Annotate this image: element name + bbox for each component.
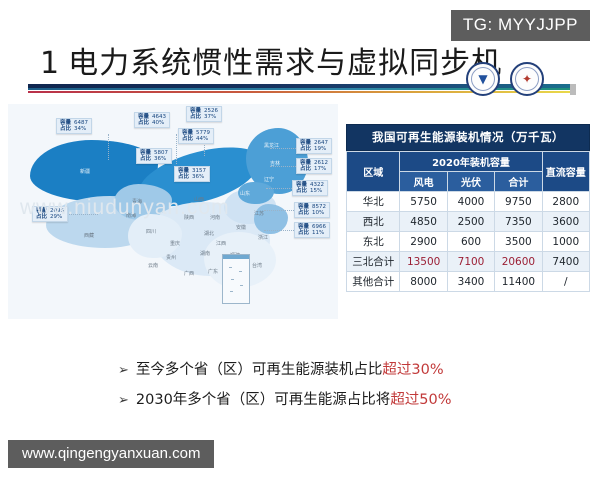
header-pv: 光伏 (447, 172, 494, 192)
province-label: 河南 (210, 214, 220, 221)
province-label: 广东 (208, 268, 218, 275)
cell-pv: 3400 (447, 272, 494, 292)
map-callout: 容量4322 占比15% (292, 180, 328, 196)
table-title: 我国可再生能源装机情况（万千瓦） (346, 124, 590, 151)
inset-dash (231, 279, 234, 280)
bullet-emphasis: 超过30% (382, 362, 443, 378)
cell-pv: 4000 (447, 192, 494, 212)
list-item: ➢ 2030年多个省（区）可再生能源占比将超过50% (118, 388, 518, 409)
callout-share-label: 占比 (36, 214, 47, 220)
callout-share-value: 37% (204, 114, 216, 120)
header-total: 合计 (495, 172, 542, 192)
map-callout: 容量4643 占比40% (134, 112, 170, 128)
institute-emblem-icon: ✦ (510, 62, 544, 96)
bullet-prefix: 至今多个省（区）可再生能源装机占比 (136, 362, 383, 378)
callout-share-value: 44% (196, 136, 208, 142)
slide: TG: MYYJJPP 1电力系统惯性需求与虚拟同步机 ▼ ✦ (0, 0, 600, 480)
map-callout: 容量6487 占比34% (56, 118, 92, 134)
table-row: 三北合计 13500 7100 20600 7400 (347, 252, 590, 272)
callout-share-label: 占比 (190, 114, 201, 120)
university-emblem-icon: ▼ (466, 62, 500, 96)
leader-line (264, 230, 296, 231)
cell-wind: 5750 (400, 192, 447, 212)
callout-share-value: 10% (312, 210, 324, 216)
footer-url: www.qingengyanxuan.com (8, 440, 214, 468)
cell-region: 华北 (347, 192, 400, 212)
inset-dash (239, 271, 242, 272)
inset-dash (230, 291, 233, 292)
callout-share-label: 占比 (298, 230, 309, 236)
province-label: 贵州 (166, 254, 176, 261)
province-label: 云南 (148, 262, 158, 269)
map-callout: 容量3157 占比36% (174, 166, 210, 182)
bullet-text: 至今多个省（区）可再生能源装机占比超过30% (136, 358, 444, 379)
province-label: 湖南 (200, 250, 210, 257)
page-title: 1电力系统惯性需求与虚拟同步机 (40, 38, 502, 82)
cell-wind: 8000 (400, 272, 447, 292)
leader-line (64, 214, 98, 215)
emblem-mark: ▼ (478, 73, 487, 85)
cell-dc: 1000 (542, 232, 589, 252)
callout-share-label: 占比 (182, 136, 193, 142)
header-dc-capacity: 直流容量 (542, 152, 589, 192)
map-callout: 容量2526 占比37% (186, 106, 222, 122)
callout-share-value: 17% (314, 166, 326, 172)
callout-share-value: 34% (74, 126, 86, 132)
cell-wind: 4850 (400, 212, 447, 232)
table-row: 东北 2900 600 3500 1000 (347, 232, 590, 252)
cell-wind: 2900 (400, 232, 447, 252)
map-callout: 容量5779 占比44% (178, 128, 214, 144)
map-callout: 容量2647 占比19% (296, 138, 332, 154)
province-label: 山东 (240, 190, 250, 197)
cell-dc: 2800 (542, 192, 589, 212)
bullet-prefix: 2030年多个省（区）可再生能源占比将 (136, 392, 390, 408)
province-label: 广西 (184, 270, 194, 277)
cell-pv: 2500 (447, 212, 494, 232)
renewable-capacity-table: 我国可再生能源装机情况（万千瓦） 区域 2020年装机容量 直流容量 风电 光伏… (346, 124, 590, 292)
leader-line (264, 210, 296, 211)
emblem-mark: ✦ (522, 73, 532, 85)
province-label: 辽宁 (264, 176, 274, 183)
callout-share-label: 占比 (138, 120, 149, 126)
bullet-list: ➢ 至今多个省（区）可再生能源装机占比超过30% ➢ 2030年多个省（区）可再… (118, 358, 518, 418)
province-label: 青海 (132, 198, 142, 205)
inset-dash (229, 267, 232, 268)
cell-region: 东北 (347, 232, 400, 252)
bullet-text: 2030年多个省（区）可再生能源占比将超过50% (136, 388, 452, 409)
bullet-arrow-icon: ➢ (118, 364, 129, 377)
leader-line (270, 166, 298, 167)
cell-total: 20600 (495, 252, 542, 272)
inset-dash (240, 285, 243, 286)
cell-region: 其他合计 (347, 272, 400, 292)
callout-share-value: 15% (310, 188, 322, 194)
cell-total: 9750 (495, 192, 542, 212)
header-wind: 风电 (400, 172, 447, 192)
cell-total: 11400 (495, 272, 542, 292)
china-renewable-map: 新疆 内蒙古 黑龙江 吉林 辽宁 西藏 青海 四川 云南 贵州 广西 广东 福建… (8, 104, 338, 319)
callout-share-value: 36% (192, 174, 204, 180)
cell-total: 7350 (495, 212, 542, 232)
province-label: 浙江 (258, 234, 268, 241)
table-body: 华北 5750 4000 9750 2800 西北 4850 2500 7350… (347, 192, 590, 292)
cell-region: 三北合计 (347, 252, 400, 272)
province-label: 四川 (146, 228, 156, 235)
bullet-arrow-icon: ➢ (118, 394, 129, 407)
callout-share-value: 29% (50, 214, 62, 220)
leader-line (176, 134, 177, 164)
callout-share-value: 36% (154, 156, 166, 162)
map-callout: 容量8572 占比10% (294, 202, 330, 218)
callout-share-label: 占比 (298, 210, 309, 216)
province-label: 南海 (126, 212, 136, 219)
map-callout: 容量5807 占比36% (136, 148, 172, 164)
header-region: 区域 (347, 152, 400, 192)
table-head: 区域 2020年装机容量 直流容量 风电 光伏 合计 (347, 152, 590, 192)
map-callout: 容量2095 占比29% (32, 206, 68, 222)
leader-line (270, 148, 298, 149)
cell-dc: 7400 (542, 252, 589, 272)
province-label: 新疆 (80, 168, 90, 175)
table-row: 华北 5750 4000 9750 2800 (347, 192, 590, 212)
callout-share-label: 占比 (178, 174, 189, 180)
table-row: 其他合计 8000 3400 11400 / (347, 272, 590, 292)
south-china-sea-inset (222, 254, 250, 304)
table-row: 西北 4850 2500 7350 3600 (347, 212, 590, 232)
bullet-emphasis: 超过50% (390, 392, 451, 408)
cell-total: 3500 (495, 232, 542, 252)
capacity-table: 区域 2020年装机容量 直流容量 风电 光伏 合计 华北 5750 4000 … (346, 151, 590, 292)
tg-watermark-badge: TG: MYYJJPP (451, 10, 590, 41)
cell-region: 西北 (347, 212, 400, 232)
province-label: 西藏 (84, 232, 94, 239)
inset-header-bar (223, 255, 249, 259)
map-callout: 容量6966 占比11% (294, 222, 330, 238)
divider-end-cap (570, 84, 576, 95)
cell-dc: 3600 (542, 212, 589, 232)
leader-line (108, 134, 109, 160)
callout-share-label: 占比 (60, 126, 71, 132)
callout-share-value: 40% (152, 120, 164, 126)
list-item: ➢ 至今多个省（区）可再生能源装机占比超过30% (118, 358, 518, 379)
table-header-row-top: 区域 2020年装机容量 直流容量 (347, 152, 590, 172)
province-label: 江苏 (254, 210, 264, 217)
province-label: 江西 (216, 240, 226, 247)
cell-pv: 7100 (447, 252, 494, 272)
cell-pv: 600 (447, 232, 494, 252)
callout-share-label: 占比 (296, 188, 307, 194)
page-title-text: 电力系统惯性需求与虚拟同步机 (68, 46, 502, 81)
callout-share-label: 占比 (300, 166, 311, 172)
cell-wind: 13500 (400, 252, 447, 272)
province-label: 安徽 (236, 224, 246, 231)
map-callout: 容量2612 占比17% (296, 158, 332, 174)
province-label: 山西 (194, 196, 204, 203)
province-label: 湖北 (204, 230, 214, 237)
callout-share-value: 19% (314, 146, 326, 152)
province-label: 台湾 (252, 262, 262, 269)
callout-share-label: 占比 (140, 156, 151, 162)
cell-dc: / (542, 272, 589, 292)
page-title-number: 1 (40, 46, 60, 81)
emblem-group: ▼ ✦ (466, 62, 544, 96)
callout-share-value: 11% (312, 230, 324, 236)
callout-share-label: 占比 (300, 146, 311, 152)
province-label: 陕西 (184, 214, 194, 221)
province-label: 重庆 (170, 240, 180, 247)
header-group-2020: 2020年装机容量 (400, 152, 542, 172)
